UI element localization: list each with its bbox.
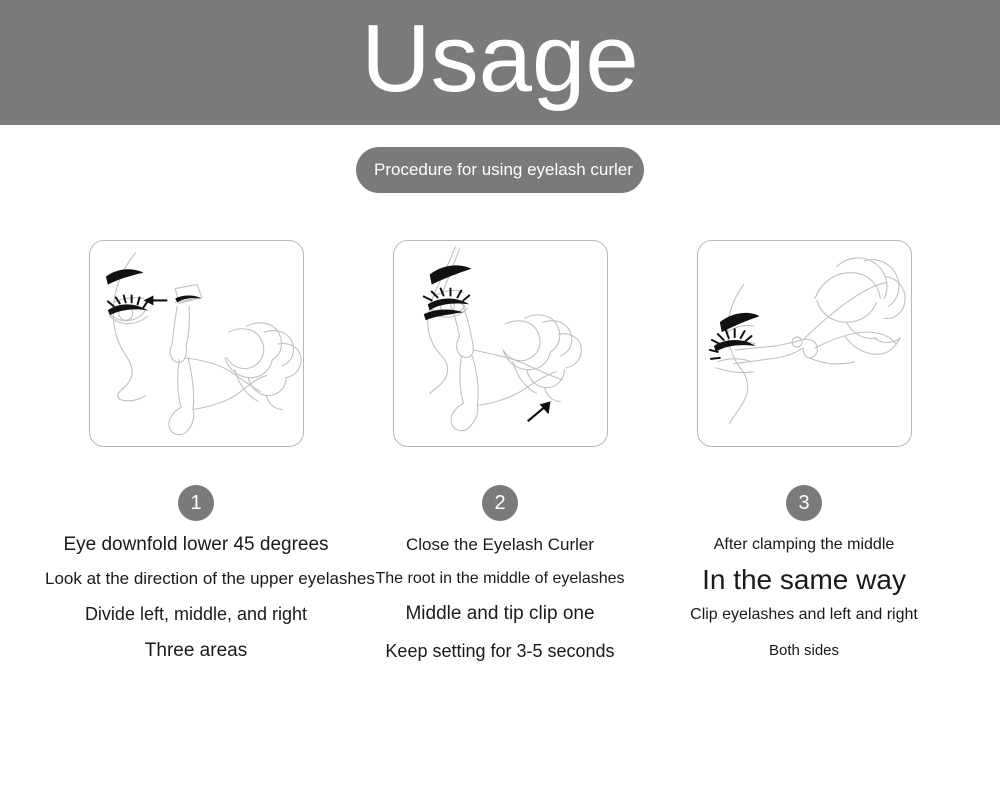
header-banner: Usage <box>0 0 1000 125</box>
step-column-1: 1 Eye downfold lower 45 degrees Look at … <box>45 240 347 669</box>
step-column-2: 2 Close the Eyelash Curler The root in t… <box>349 240 651 669</box>
step-1-line-4: Three areas <box>45 633 347 669</box>
step-1-line-3: Divide left, middle, and right <box>45 595 347 633</box>
step-2-line-4: Keep setting for 3-5 seconds <box>349 633 651 669</box>
step-3-illustration <box>697 240 912 447</box>
steps-row: 1 Eye downfold lower 45 degrees Look at … <box>0 240 1000 700</box>
step-3-line-3: Clip eyelashes and left and right <box>653 597 955 633</box>
step-2-caption: Close the Eyelash Curler The root in the… <box>349 527 651 669</box>
step-column-3: 3 After clamping the middle In the same … <box>653 240 955 669</box>
step-2-illustration <box>393 240 608 447</box>
step-3-line-1: After clamping the middle <box>653 527 955 563</box>
step-2-line-3: Middle and tip clip one <box>349 595 651 633</box>
step-1-caption: Eye downfold lower 45 degrees Look at th… <box>45 527 347 669</box>
step-2-line-2: The root in the middle of eyelashes <box>349 563 651 595</box>
step-1-line-2: Look at the direction of the upper eyela… <box>45 563 347 595</box>
step-badge-1: 1 <box>178 485 214 521</box>
step-3-line-4: Both sides <box>653 633 955 669</box>
step-3-line-2: In the same way <box>653 563 955 597</box>
subheading-label: Procedure for using eyelash curler <box>374 159 633 181</box>
step-1-line-1: Eye downfold lower 45 degrees <box>45 527 347 563</box>
step-1-illustration <box>89 240 304 447</box>
subheading-row: Procedure for using eyelash curler <box>0 125 1000 240</box>
step-badge-2: 2 <box>482 485 518 521</box>
step-badge-3: 3 <box>786 485 822 521</box>
subheading-pill: Procedure for using eyelash curler <box>356 147 644 193</box>
step-2-line-1: Close the Eyelash Curler <box>349 527 651 563</box>
step-3-caption: After clamping the middle In the same wa… <box>653 527 955 669</box>
page-title: Usage <box>361 9 639 109</box>
